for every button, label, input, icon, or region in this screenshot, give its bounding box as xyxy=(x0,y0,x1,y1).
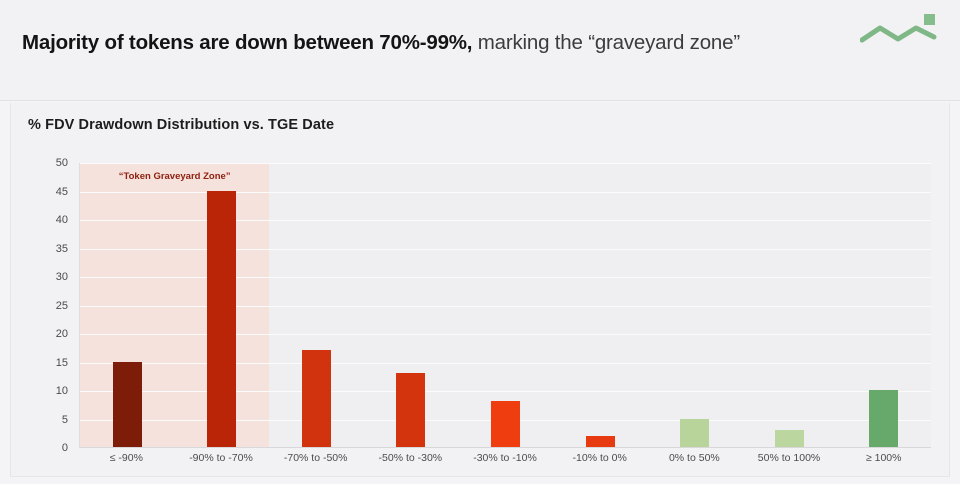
x-axis-tick-label: -90% to -70% xyxy=(174,452,269,474)
y-axis-tick-label: 5 xyxy=(33,414,79,426)
y-axis-tick-label: 25 xyxy=(33,300,79,312)
y-axis-tick-label: 35 xyxy=(33,243,79,255)
y-axis-tick-label: 30 xyxy=(33,271,79,283)
bar-series xyxy=(80,163,931,447)
bar[interactable] xyxy=(586,436,615,447)
bar[interactable] xyxy=(207,191,236,448)
bar-slot xyxy=(553,163,648,447)
x-axis-tick-label: 50% to 100% xyxy=(742,452,837,474)
x-axis-ticks: ≤ -90%-90% to -70%-70% to -50%-50% to -3… xyxy=(79,452,931,474)
bar-slot xyxy=(80,163,175,447)
bar[interactable] xyxy=(396,373,425,447)
plot-background: “Token Graveyard Zone” xyxy=(79,163,931,448)
chart-title: % FDV Drawdown Distribution vs. TGE Date xyxy=(28,117,334,133)
bar-slot xyxy=(364,163,459,447)
bar-slot xyxy=(458,163,553,447)
y-axis-tick-label: 50 xyxy=(33,157,79,169)
y-axis-tick-label: 0 xyxy=(33,442,79,454)
headline-light-part: marking the “graveyard zone” xyxy=(472,31,740,54)
x-axis-tick-label: -30% to -10% xyxy=(458,452,553,474)
x-axis-tick-label: -50% to -30% xyxy=(363,452,458,474)
bar[interactable] xyxy=(680,419,709,448)
plot-area-wrapper: “Token Graveyard Zone” 50454035302520151… xyxy=(79,163,931,448)
bar[interactable] xyxy=(869,390,898,447)
bar[interactable] xyxy=(113,362,142,448)
zigzag-line-logo xyxy=(860,10,938,52)
headline-bold-part: Majority of tokens are down between 70%-… xyxy=(22,31,472,54)
x-axis-tick-label: -10% to 0% xyxy=(552,452,647,474)
logo-zigzag-icon xyxy=(862,28,934,40)
x-axis-tick-label: ≥ 100% xyxy=(836,452,931,474)
bar-slot xyxy=(742,163,837,447)
bar[interactable] xyxy=(775,430,804,447)
y-axis-tick-label: 40 xyxy=(33,214,79,226)
y-axis-tick-label: 10 xyxy=(33,385,79,397)
bar-slot xyxy=(837,163,932,447)
bar-slot xyxy=(175,163,270,447)
bar[interactable] xyxy=(302,350,331,447)
page-header: Majority of tokens are down between 70%-… xyxy=(0,0,960,101)
logo-square-icon xyxy=(924,14,935,25)
chart-card: % FDV Drawdown Distribution vs. TGE Date… xyxy=(10,103,950,477)
bar-slot xyxy=(269,163,364,447)
x-axis-tick-label: -70% to -50% xyxy=(268,452,363,474)
logo-svg xyxy=(860,10,938,52)
y-axis-tick-label: 45 xyxy=(33,186,79,198)
bar[interactable] xyxy=(491,401,520,447)
page-headline: Majority of tokens are down between 70%-… xyxy=(22,27,832,58)
x-axis-tick-label: ≤ -90% xyxy=(79,452,174,474)
x-axis-tick-label: 0% to 50% xyxy=(647,452,742,474)
bar-slot xyxy=(647,163,742,447)
y-axis-tick-label: 15 xyxy=(33,357,79,369)
y-axis-tick-label: 20 xyxy=(33,328,79,340)
